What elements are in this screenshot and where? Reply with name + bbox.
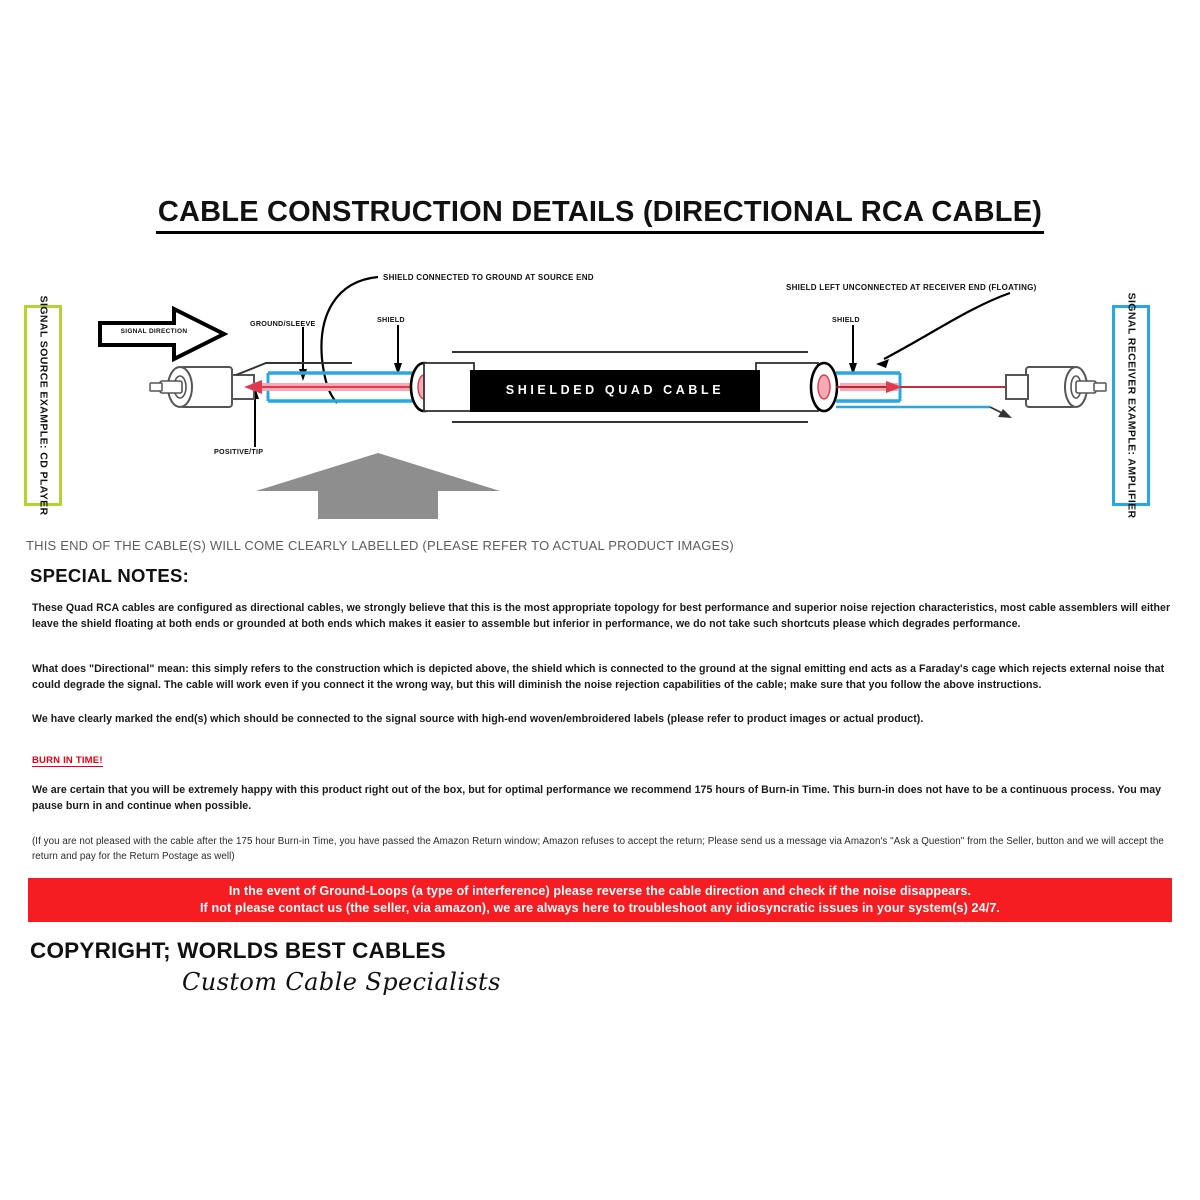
burn-in-heading: BURN IN TIME! — [32, 755, 103, 767]
special-notes-paragraph-3: We have clearly marked the end(s) which … — [32, 711, 1178, 727]
page-title-text: CABLE CONSTRUCTION DETAILS (DIRECTIONAL … — [156, 196, 1044, 234]
page-title: CABLE CONSTRUCTION DETAILS (DIRECTIONAL … — [0, 196, 1200, 234]
cable-construction-diagram: SIGNAL SOURCE EXAMPLE: CD PLAYER SIGNAL … — [0, 255, 1200, 530]
ground-loop-banner: In the event of Ground-Loops (a type of … — [28, 878, 1172, 922]
ground-loop-banner-line-2: If not please contact us (the seller, vi… — [200, 901, 1000, 916]
copyright-text: COPYRIGHT; WORLDS BEST CABLES — [30, 938, 446, 964]
document-sheet: CABLE CONSTRUCTION DETAILS (DIRECTIONAL … — [0, 0, 1200, 1200]
cable-jacket-label: SHIELDED QUAD CABLE — [470, 383, 760, 397]
special-notes-paragraph-2: What does "Directional" mean: this simpl… — [32, 661, 1178, 694]
ground-loop-banner-line-1: In the event of Ground-Loops (a type of … — [229, 884, 971, 899]
special-notes-paragraph-1: These Quad RCA cables are configured as … — [32, 600, 1178, 633]
labelled-end-caption: THIS END OF THE CABLE(S) WILL COME CLEAR… — [26, 538, 1166, 553]
special-notes-heading: SPECIAL NOTES: — [30, 565, 189, 587]
burn-in-paragraph-1: We are certain that you will be extremel… — [32, 782, 1178, 815]
cable-jacket-block: SHIELDED QUAD CABLE — [470, 370, 760, 412]
burn-in-paragraph-2: (If you are not pleased with the cable a… — [32, 834, 1178, 864]
tagline-text: Custom Cable Specialists — [182, 968, 501, 996]
